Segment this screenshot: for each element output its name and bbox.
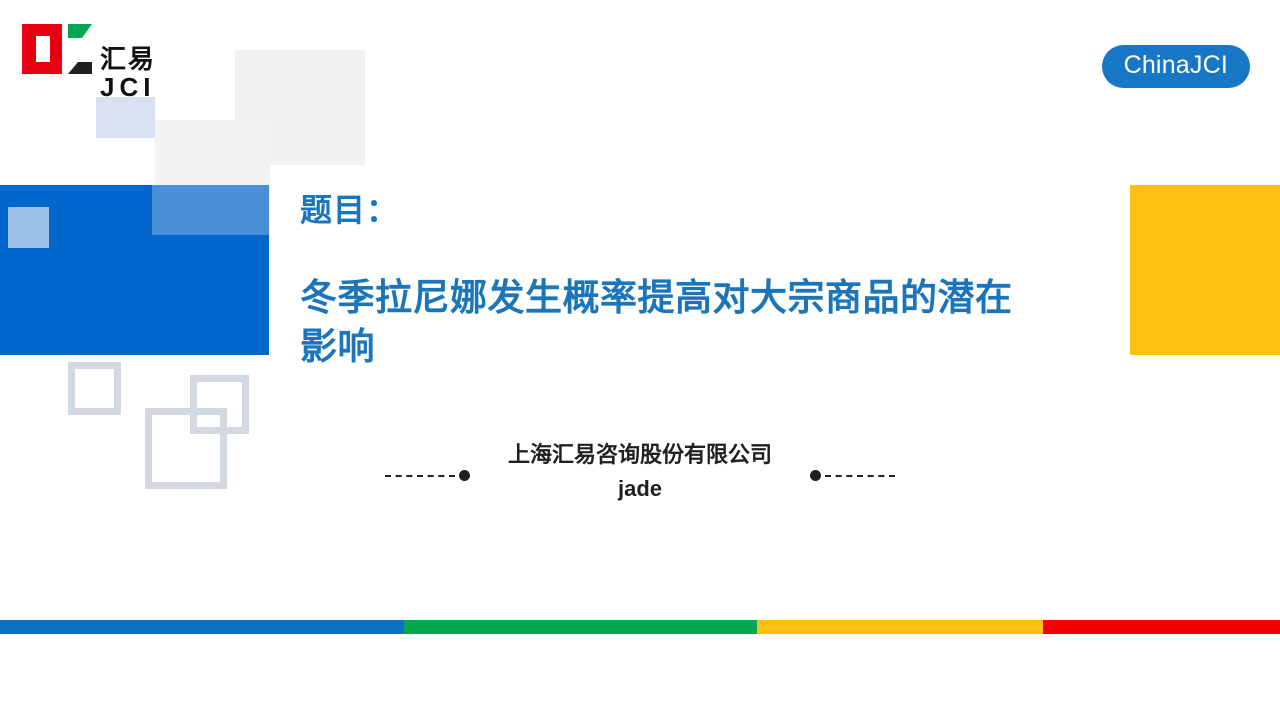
bottom-bar-segment-red (1043, 620, 1280, 634)
decor-square-blue-pale (96, 97, 155, 138)
page-title: 冬季拉尼娜发生概率提高对大宗商品的潜在影响 (300, 274, 1020, 372)
decor-outline-square-1 (68, 362, 121, 415)
slide-root: 汇易 JCI ChinaJCI 题目： 冬季拉尼娜发生概率提高对大宗商品的潜在影… (0, 0, 1280, 720)
subtitle-text: 上海汇易咨询股份有限公司 jade (470, 438, 810, 506)
decor-dashed-line-left (385, 466, 470, 486)
title-block: 题目： 冬季拉尼娜发生概率提高对大宗商品的潜在影响 (300, 190, 1020, 372)
dot-right (810, 470, 821, 481)
bottom-bar-segment-blue (0, 620, 404, 634)
dashed-line-left (385, 475, 455, 477)
bottom-bar-segment-green (404, 620, 757, 634)
decor-block-blue-overlay (152, 185, 269, 235)
dashed-line-right (825, 475, 895, 477)
bottom-color-bar (0, 620, 1280, 634)
brand-logo: 汇易 JCI (16, 22, 176, 88)
title-label: 题目： (300, 190, 1020, 230)
jci-logo-mark-icon (16, 22, 96, 88)
subtitle-author: jade (470, 472, 810, 506)
subtitle-company: 上海汇易咨询股份有限公司 (508, 442, 772, 467)
logo-text-en: JCI (100, 74, 155, 100)
chinajci-badge[interactable]: ChinaJCI (1102, 45, 1250, 88)
dot-left (459, 470, 470, 481)
subtitle-block: 上海汇易咨询股份有限公司 jade (0, 438, 1280, 506)
decor-dashed-line-right (810, 466, 895, 486)
decor-square-blue-soft (8, 207, 49, 248)
decor-block-yellow (1130, 185, 1280, 355)
logo-text-cn: 汇易 (100, 46, 156, 72)
bottom-bar-segment-yellow (757, 620, 1043, 634)
